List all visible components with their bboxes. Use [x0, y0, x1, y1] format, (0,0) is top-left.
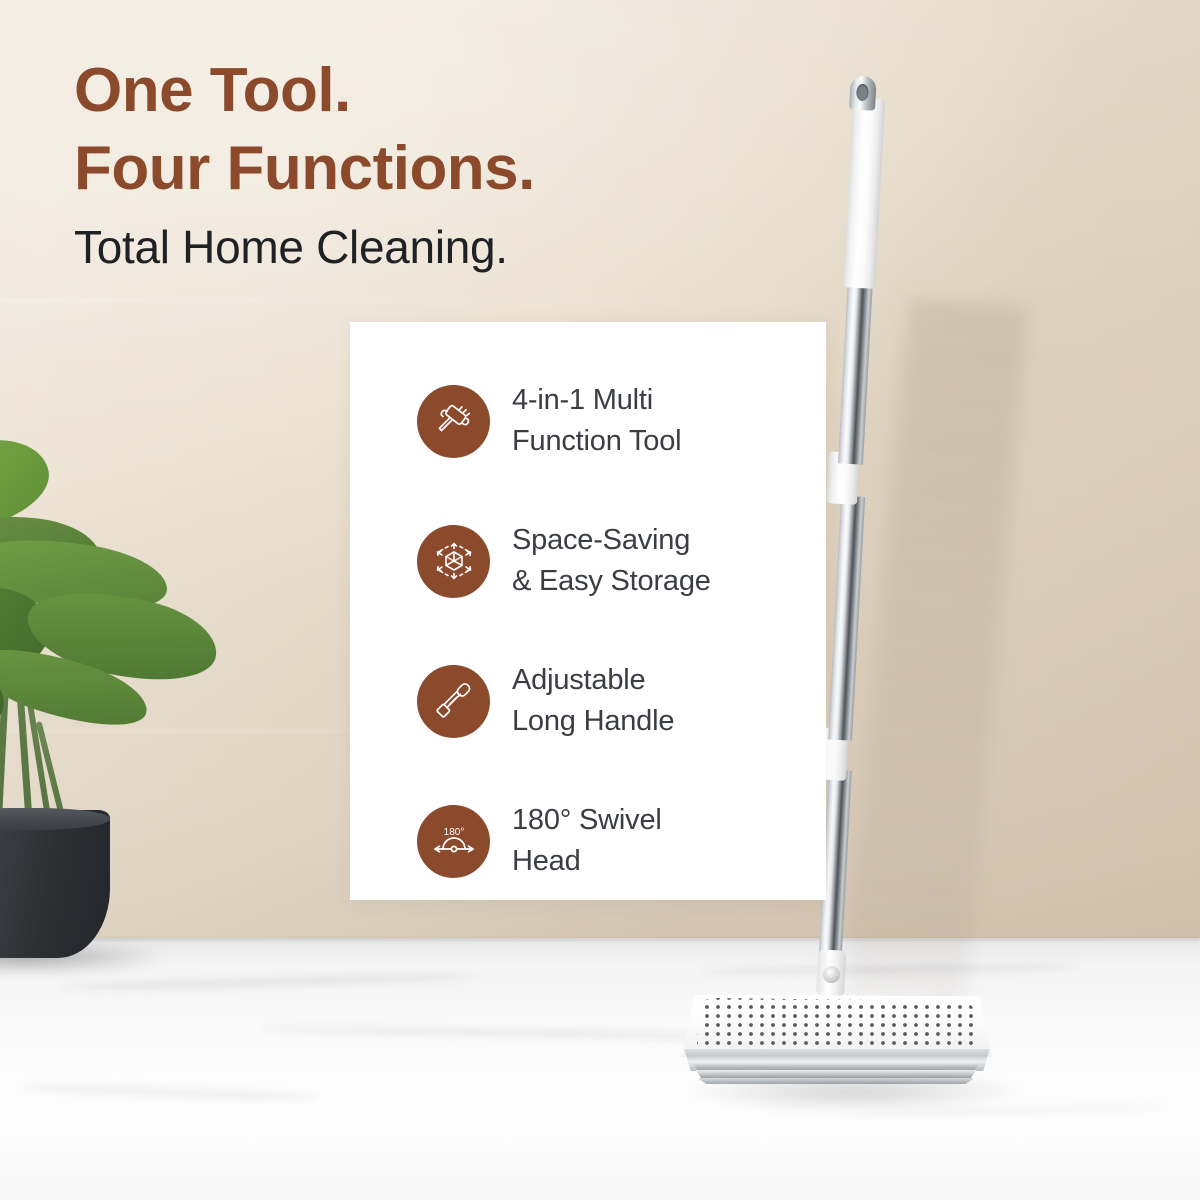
feature-label: 4-in-1 Multi Function Tool: [512, 380, 681, 462]
storage-cube-icon: [417, 525, 490, 598]
headline-block: One Tool. Four Functions. Total Home Cle…: [74, 52, 794, 278]
chrome-pole-upper: [838, 276, 873, 465]
headline-line-2: Four Functions.: [74, 130, 794, 208]
feature-item-long-handle: Adjustable Long Handle: [417, 641, 817, 761]
head-perforations: [682, 995, 992, 1057]
poster-canvas: One Tool. Four Functions. Total Home Cle…: [0, 0, 1200, 1200]
chrome-pole-middle: [828, 496, 865, 741]
swivel-pivot-pin: [823, 966, 840, 983]
long-handle-icon: [417, 665, 490, 738]
feature-label: Adjustable Long Handle: [512, 660, 674, 742]
swivel-180-icon: 180°: [417, 805, 490, 878]
feature-item-swivel-head: 180° 180° Swivel Head: [417, 781, 817, 901]
feature-label: 180° Swivel Head: [512, 800, 662, 882]
squeegee-scrub-icon: [417, 385, 490, 458]
headline-subline: Total Home Cleaning.: [74, 216, 794, 278]
white-grip: [843, 97, 885, 288]
feature-item-multi-function: 4-in-1 Multi Function Tool: [417, 361, 817, 481]
feature-card: 4-in-1 Multi Function Tool: [350, 322, 826, 900]
product-floor-shadow: [690, 1078, 1020, 1112]
feature-list: 4-in-1 Multi Function Tool: [417, 361, 817, 901]
swivel-icon-caption: 180°: [443, 827, 464, 838]
headline-line-1: One Tool.: [74, 52, 794, 130]
blade-edge-strip: [686, 1062, 986, 1071]
wall-shadow: [845, 297, 1028, 1005]
feature-item-space-saving: Space-Saving & Easy Storage: [417, 501, 817, 621]
feature-label: Space-Saving & Easy Storage: [512, 520, 711, 602]
